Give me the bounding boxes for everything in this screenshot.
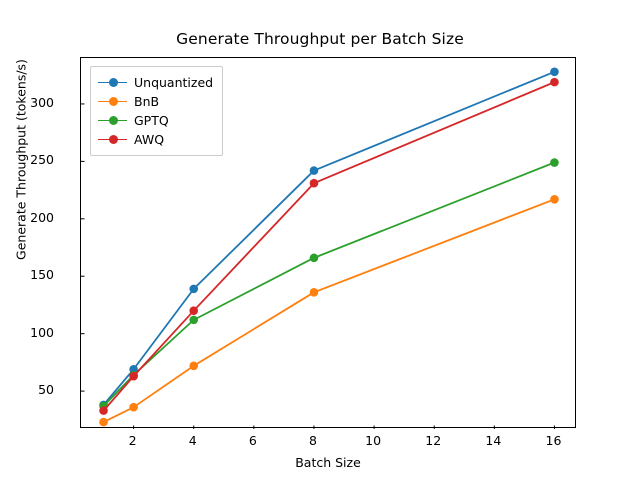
chart-legend: UnquantizedBnBGPTQAWQ [90, 66, 223, 156]
legend-item-gptq[interactable]: GPTQ [98, 111, 213, 130]
data-point [189, 362, 198, 371]
y-tick-label: 150 [14, 267, 54, 282]
x-tick-label: 10 [353, 433, 393, 448]
data-point [550, 67, 559, 76]
legend-marker-icon [98, 114, 127, 128]
data-point [189, 285, 198, 294]
legend-item-unquantized[interactable]: Unquantized [98, 73, 213, 92]
y-axis-label: Generate Throughput (tokens/s) [14, 0, 29, 350]
y-tick-label: 300 [14, 95, 54, 110]
y-tick-label: 250 [14, 152, 54, 167]
series-line-gptq [104, 163, 555, 407]
data-point [550, 158, 559, 167]
y-tick-label: 100 [14, 325, 54, 340]
x-tick-label: 4 [173, 433, 213, 448]
x-tick-label: 6 [233, 433, 273, 448]
data-point [310, 166, 319, 175]
legend-marker-icon [98, 76, 127, 90]
legend-label: Unquantized [134, 75, 213, 90]
x-axis-label: Batch Size [80, 455, 576, 470]
legend-marker-icon [98, 133, 127, 147]
y-tick-label: 50 [14, 382, 54, 397]
legend-label: BnB [134, 94, 159, 109]
x-tick-label: 14 [473, 433, 513, 448]
data-point [99, 418, 108, 427]
data-point [99, 406, 108, 415]
legend-label: AWQ [134, 132, 164, 147]
series-line-bnb [104, 199, 555, 422]
legend-marker-icon [98, 95, 127, 109]
chart-figure: Generate Throughput per Batch Size Gener… [0, 0, 640, 480]
data-point [310, 254, 319, 263]
x-tick-label: 16 [533, 433, 573, 448]
data-point [129, 372, 138, 381]
x-tick-label: 8 [293, 433, 333, 448]
data-point [189, 316, 198, 325]
y-tick-label: 200 [14, 210, 54, 225]
legend-item-bnb[interactable]: BnB [98, 92, 213, 111]
data-point [550, 195, 559, 204]
data-point [310, 288, 319, 297]
x-tick-label: 12 [413, 433, 453, 448]
data-point [550, 78, 559, 87]
chart-title: Generate Throughput per Batch Size [0, 30, 640, 48]
data-point [189, 306, 198, 315]
legend-label: GPTQ [134, 113, 169, 128]
legend-item-awq[interactable]: AWQ [98, 130, 213, 149]
data-point [129, 403, 138, 412]
data-point [310, 179, 319, 188]
x-tick-label: 2 [113, 433, 153, 448]
